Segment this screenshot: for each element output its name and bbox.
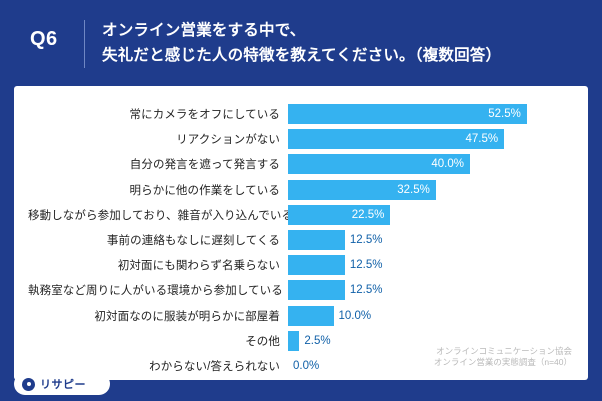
- bar-wrapper: 12.5%: [288, 255, 382, 275]
- category-label: 執務室など周りに人がいる環境から参加している: [28, 282, 288, 298]
- chart-row: 初対面にも関わらず名乗らない12.5%: [28, 255, 382, 275]
- category-label: わからない/答えられない: [28, 358, 288, 374]
- category-label: 事前の連絡もなしに遅刻してくる: [28, 232, 288, 248]
- bar-value-label: 12.5%: [350, 234, 383, 246]
- bar-value-label: 47.5%: [466, 133, 499, 145]
- chart-row: 明らかに他の作業をしている32.5%: [28, 180, 436, 200]
- category-label: その他: [28, 333, 288, 349]
- bar-wrapper: 12.5%: [288, 280, 382, 300]
- bar-wrapper: 22.5%: [288, 205, 390, 225]
- chart-row: 移動しながら参加しており、雑音が入り込んでいる22.5%: [28, 205, 390, 225]
- chart-row: 事前の連絡もなしに遅刻してくる12.5%: [28, 230, 382, 250]
- bar: [288, 331, 299, 351]
- category-label: リアクションがない: [28, 131, 288, 147]
- chart-row: その他2.5%: [28, 331, 331, 351]
- brand-logo-label: リサピー: [40, 376, 86, 392]
- category-label: 初対面にも関わらず名乗らない: [28, 257, 288, 273]
- bar-chart: 常にカメラをオフにしている52.5%リアクションがない47.5%自分の発言を遮っ…: [14, 86, 588, 380]
- bar-value-label: 2.5%: [304, 335, 330, 347]
- map-pin-icon: [22, 378, 35, 391]
- title-line-1: オンライン営業をする中で、: [102, 18, 582, 43]
- category-label: 自分の発言を遮って発言する: [28, 156, 288, 172]
- bar: [288, 280, 345, 300]
- bar-wrapper: 32.5%: [288, 180, 436, 200]
- bar-value-label: 40.0%: [431, 158, 464, 170]
- chart-row: リアクションがない47.5%: [28, 129, 504, 149]
- bar: [288, 230, 345, 250]
- bar-wrapper: 0.0%: [288, 356, 319, 376]
- chart-row: 初対面なのに服装が明らかに部屋着10.0%: [28, 306, 371, 326]
- chart-row: 常にカメラをオフにしている52.5%: [28, 104, 527, 124]
- bar-value-label: 10.0%: [339, 310, 372, 322]
- source-line-2: オンライン営業の実態調査（n=40）: [434, 357, 572, 368]
- page-title: オンライン営業をする中で、 失礼だと感じた人の特徴を教えてください。（複数回答）: [102, 18, 582, 68]
- slide: Q6 オンライン営業をする中で、 失礼だと感じた人の特徴を教えてください。（複数…: [0, 0, 602, 401]
- category-label: 常にカメラをオフにしている: [28, 106, 288, 122]
- source-line-1: オンラインコミュニケーション協会: [434, 346, 572, 357]
- bar-value-label: 22.5%: [352, 209, 385, 221]
- chart-card: 常にカメラをオフにしている52.5%リアクションがない47.5%自分の発言を遮っ…: [14, 86, 588, 380]
- bar-wrapper: 52.5%: [288, 104, 527, 124]
- bar-value-label: 52.5%: [488, 108, 521, 120]
- bar-wrapper: 40.0%: [288, 154, 470, 174]
- bar-value-label: 12.5%: [350, 259, 383, 271]
- title-line-2: 失礼だと感じた人の特徴を教えてください。（複数回答）: [102, 43, 582, 68]
- header: Q6 オンライン営業をする中で、 失礼だと感じた人の特徴を教えてください。（複数…: [0, 0, 602, 88]
- category-label: 移動しながら参加しており、雑音が入り込んでいる: [28, 207, 288, 223]
- bar-value-label: 0.0%: [293, 360, 319, 372]
- bar-value-label: 32.5%: [397, 184, 430, 196]
- bar: [288, 255, 345, 275]
- bar-wrapper: 47.5%: [288, 129, 504, 149]
- bar-value-label: 12.5%: [350, 284, 383, 296]
- header-divider: [84, 20, 85, 68]
- brand-logo: リサピー: [14, 373, 110, 395]
- category-label: 明らかに他の作業をしている: [28, 182, 288, 198]
- category-label: 初対面なのに服装が明らかに部屋着: [28, 308, 288, 324]
- source-note: オンラインコミュニケーション協会 オンライン営業の実態調査（n=40）: [434, 346, 572, 368]
- chart-row: 執務室など周りに人がいる環境から参加している12.5%: [28, 280, 382, 300]
- bar-wrapper: 2.5%: [288, 331, 331, 351]
- chart-row: 自分の発言を遮って発言する40.0%: [28, 154, 470, 174]
- question-number: Q6: [30, 28, 58, 51]
- bar-wrapper: 12.5%: [288, 230, 382, 250]
- bar-wrapper: 10.0%: [288, 306, 371, 326]
- bar: [288, 306, 334, 326]
